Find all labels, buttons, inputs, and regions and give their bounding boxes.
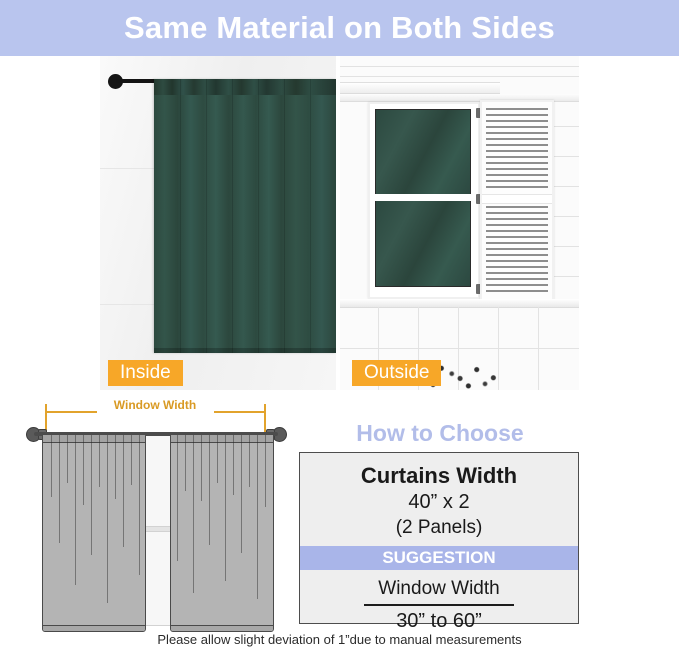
- photo-comparison-row: Inside: [0, 56, 679, 390]
- table-row-curtains-width-value: 40” x 2: [300, 489, 578, 515]
- window-sill: [340, 299, 579, 308]
- disclaimer-text: Please allow slight deviation of 1”due t…: [0, 632, 679, 647]
- window-pane-bottom: [375, 200, 471, 287]
- curtain-hem: [154, 348, 336, 353]
- diagram-curtain-panel-right: [170, 434, 274, 632]
- how-to-choose-title: How to Choose: [300, 420, 580, 447]
- photo-outside-view: Outside: [340, 56, 579, 390]
- how-to-choose-table: Curtains Width 40” x 2 (2 Panels) SUGGES…: [299, 452, 579, 624]
- curtain-rod-pocket: [154, 79, 336, 95]
- green-curtain-panel: [154, 79, 336, 353]
- dimension-line-right: [214, 411, 266, 413]
- table-row-curtains-width-label: Curtains Width: [300, 453, 578, 489]
- table-row-window-width-label: Window Width: [300, 570, 578, 602]
- table-row-suggestion-band: SUGGESTION: [300, 546, 578, 570]
- diagram-curtain-panel-left: [42, 434, 146, 632]
- page-title: Same Material on Both Sides: [124, 10, 555, 46]
- dimension-label: Window Width: [18, 398, 292, 412]
- photo-inside-view: Inside: [100, 56, 336, 390]
- window-mullion: [370, 194, 478, 201]
- exterior-window: [368, 102, 480, 299]
- shutter-center-rail: [482, 194, 552, 204]
- dimension-line-left: [45, 411, 97, 413]
- table-row-panels-note: (2 Panels): [300, 515, 578, 546]
- louvered-shutter: [480, 100, 554, 302]
- badge-inside: Inside: [108, 360, 183, 386]
- curtain-width-diagram: Window Width: [18, 398, 292, 648]
- window-pane-top: [375, 109, 471, 196]
- badge-outside: Outside: [352, 360, 441, 386]
- header-banner: Same Material on Both Sides: [0, 0, 679, 56]
- house-eave-trim: [340, 82, 500, 94]
